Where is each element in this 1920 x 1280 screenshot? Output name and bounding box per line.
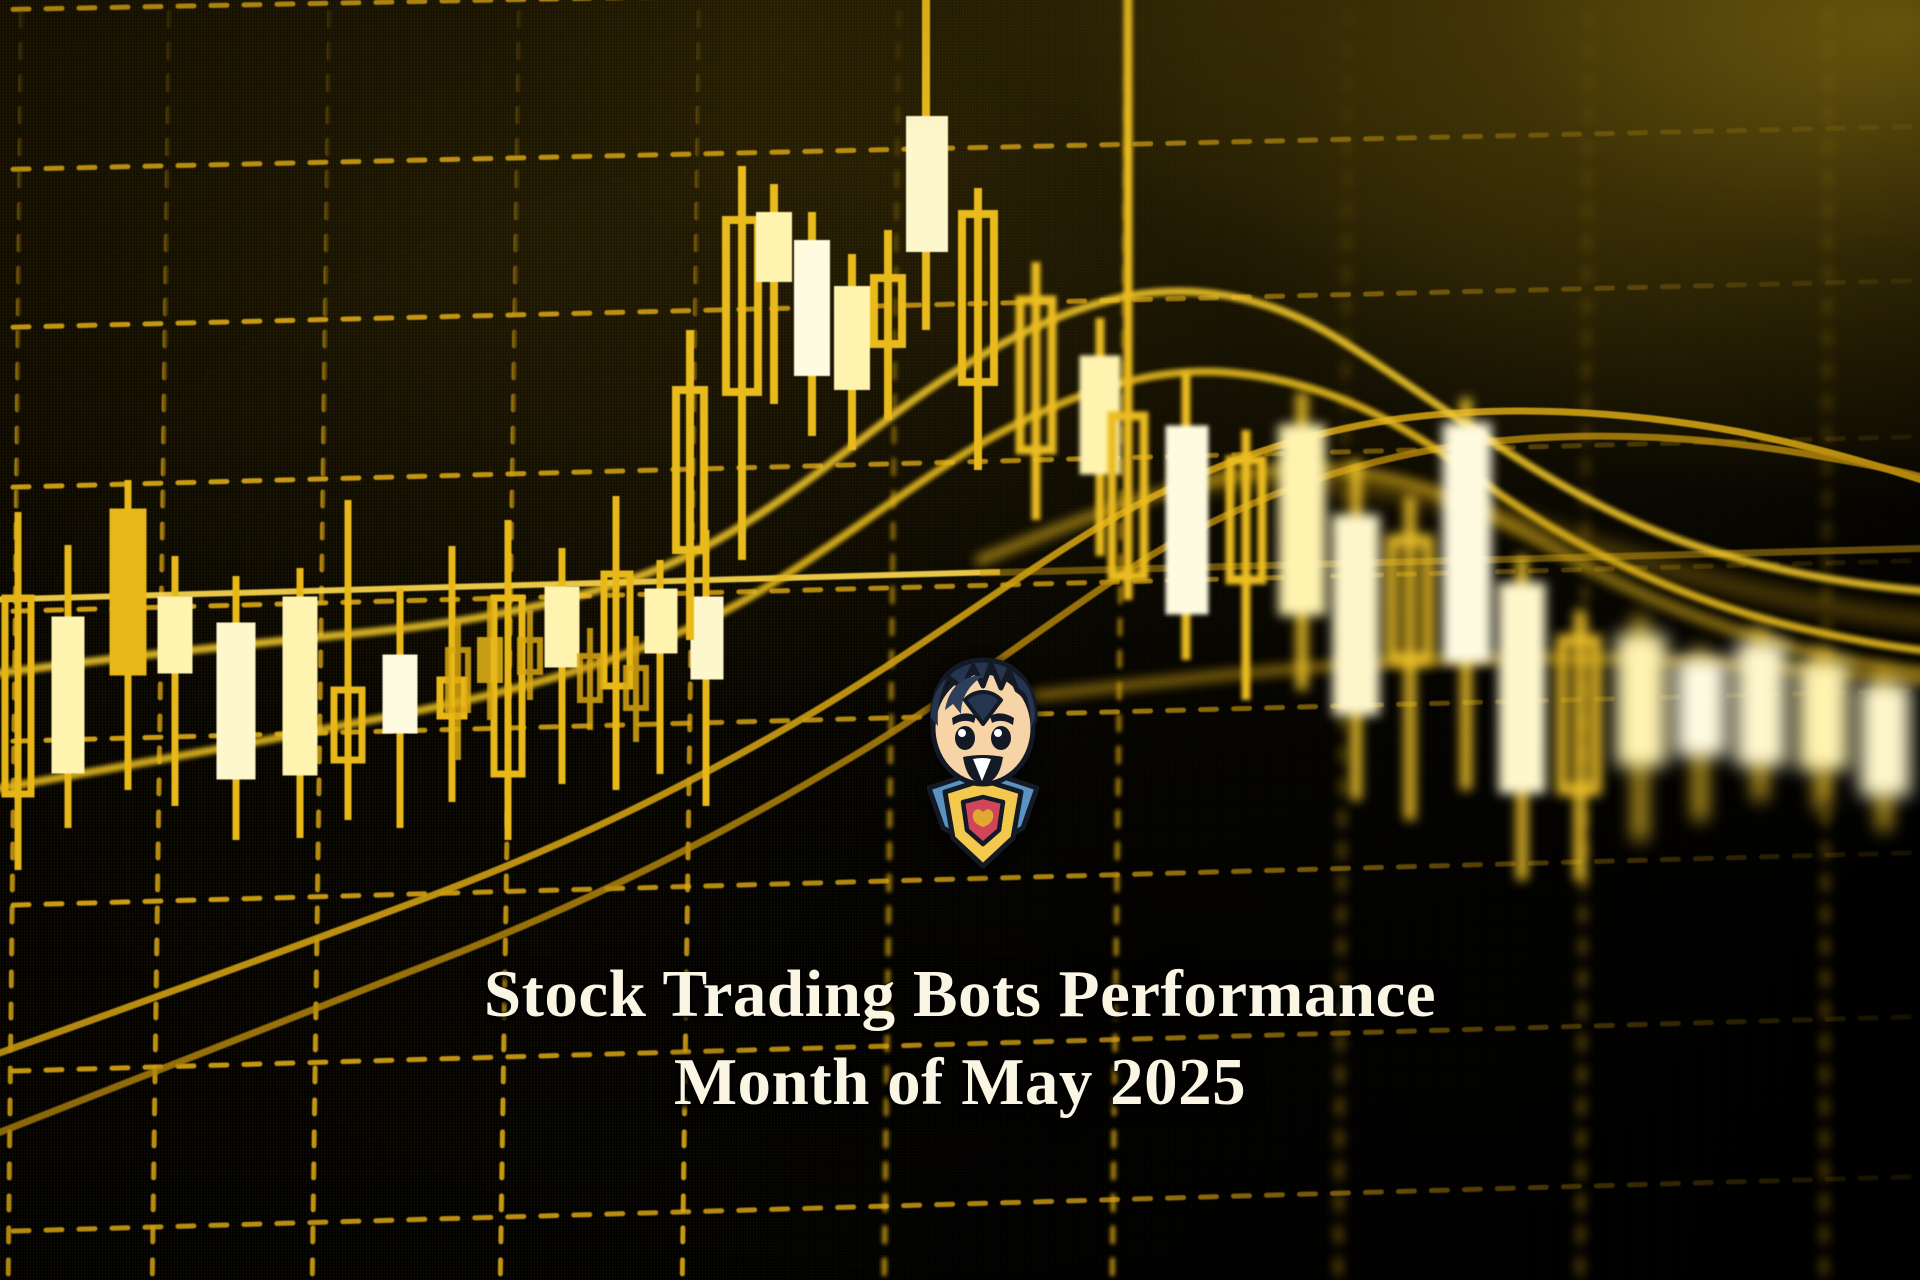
mascot-superhero-avatar <box>905 652 1061 902</box>
banner-canvas: Stock Trading Bots Performance Month of … <box>0 0 1920 1280</box>
corner-bloom <box>0 0 1920 1280</box>
